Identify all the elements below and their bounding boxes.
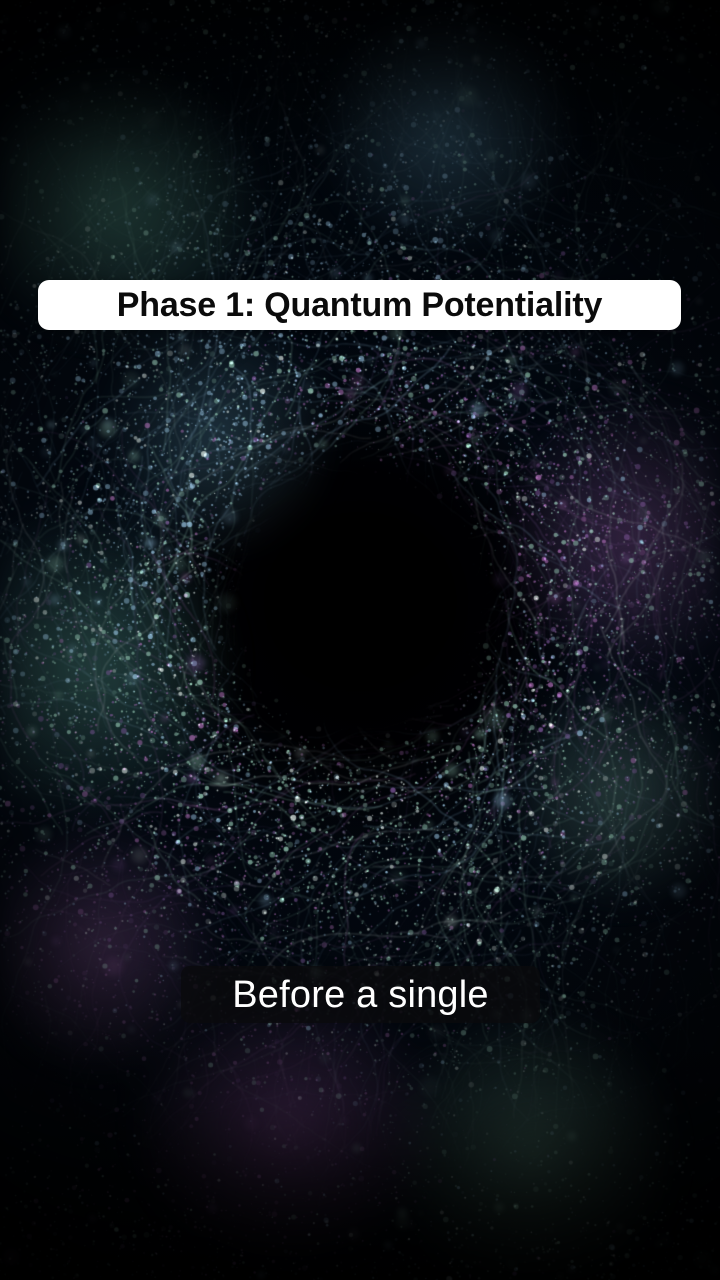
title-card: Phase 1: Quantum Potentiality [38, 280, 681, 330]
caption-card: Before a single [181, 966, 540, 1023]
caption-text: Before a single [232, 976, 489, 1014]
video-frame: Phase 1: Quantum Potentiality Before a s… [0, 0, 720, 1280]
title-text: Phase 1: Quantum Potentiality [117, 288, 602, 322]
bokeh-dots-canvas [0, 0, 720, 1280]
